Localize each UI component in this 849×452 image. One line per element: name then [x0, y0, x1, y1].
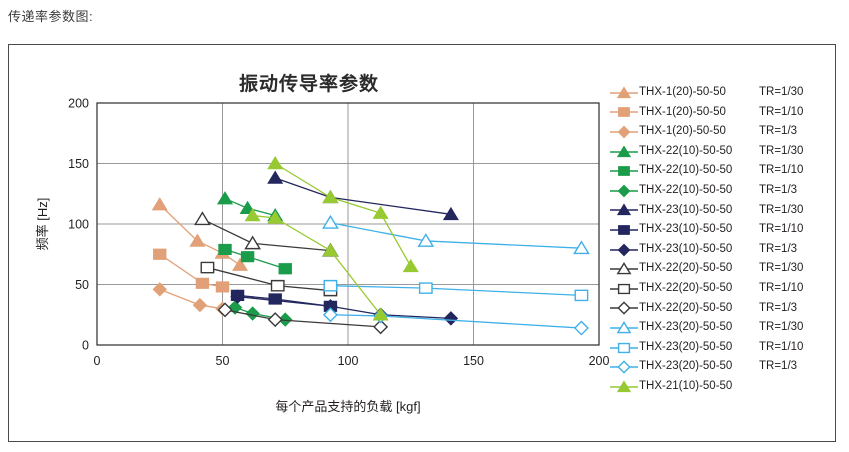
data-point-diamond	[269, 313, 282, 326]
series-line	[160, 289, 223, 308]
legend-series-tr: TR=1/3	[759, 361, 797, 373]
series-line	[275, 178, 451, 214]
x-tick-label: 0	[94, 354, 101, 368]
x-tick-label: 50	[216, 354, 230, 368]
series-line	[330, 286, 581, 296]
legend-marker-triangle-icon	[609, 261, 639, 277]
series-13	[324, 281, 587, 301]
data-point-triangle	[245, 237, 259, 249]
data-point-square	[154, 249, 166, 259]
legend-series-name: THX-22(20)-50-50	[639, 263, 759, 275]
legend-item-6[interactable]: THX-23(10)-50-50TR=1/30	[609, 201, 837, 221]
data-point-triangle	[323, 191, 337, 203]
legend-item-13[interactable]: THX-23(20)-50-50TR=1/10	[609, 338, 837, 358]
data-point-diamond	[575, 322, 588, 335]
legend-series-name: THX-23(10)-50-50	[639, 205, 759, 217]
legend-series-tr: TR=1/10	[759, 224, 803, 236]
legend-item-4[interactable]: THX-22(10)-50-50TR=1/10	[609, 161, 837, 181]
series-line	[275, 164, 411, 267]
legend-item-14[interactable]: THX-23(20)-50-50TR=1/3	[609, 357, 837, 377]
legend-series-name: THX-23(10)-50-50	[639, 224, 759, 236]
legend-series-tr: TR=1/30	[759, 322, 803, 334]
data-point-square	[196, 278, 208, 288]
legend-series-name: THX-23(20)-50-50	[639, 342, 759, 354]
legend-marker-square-icon	[609, 222, 639, 238]
y-tick-label: 50	[75, 278, 89, 292]
data-point-square	[216, 282, 228, 292]
y-axis-title: 频率 [Hz]	[35, 198, 50, 251]
data-point-square	[272, 281, 284, 291]
legend-marker-diamond-icon	[609, 124, 639, 140]
legend-item-2[interactable]: THX-1(20)-50-50TR=1/3	[609, 122, 837, 142]
data-point-square	[324, 281, 336, 291]
data-point-triangle	[153, 198, 167, 210]
legend-marker-triangle-icon	[609, 379, 639, 395]
data-point-square	[575, 290, 587, 300]
legend-marker-triangle-icon	[609, 85, 639, 101]
legend-series-name: THX-23(20)-50-50	[639, 361, 759, 373]
legend-marker-triangle-icon	[609, 144, 639, 160]
legend-series-tr: TR=1/3	[759, 244, 797, 256]
y-tick-label: 0	[82, 339, 89, 353]
legend-marker-diamond-icon	[609, 242, 639, 258]
legend-series-name: THX-23(10)-50-50	[639, 244, 759, 256]
data-point-triangle	[404, 260, 418, 272]
x-tick-label: 200	[589, 354, 610, 368]
y-tick-label: 100	[68, 218, 89, 232]
legend-item-12[interactable]: THX-23(20)-50-50TR=1/30	[609, 318, 837, 338]
legend-series-name: THX-21(10)-50-50	[639, 381, 759, 393]
legend-item-5[interactable]: THX-22(10)-50-50TR=1/3	[609, 181, 837, 201]
data-point-diamond	[246, 307, 259, 320]
legend-series-name: THX-1(20)-50-50	[639, 107, 759, 119]
legend-marker-square-icon	[609, 340, 639, 356]
legend-item-3[interactable]: THX-22(10)-50-50TR=1/30	[609, 142, 837, 162]
data-point-triangle	[374, 207, 388, 219]
data-point-square	[279, 264, 291, 274]
legend-series-name: THX-22(10)-50-50	[639, 146, 759, 158]
data-point-triangle	[218, 192, 232, 204]
x-tick-label: 150	[463, 354, 484, 368]
legend-series-name: THX-23(20)-50-50	[639, 322, 759, 334]
legend-series-name: THX-1(20)-50-50	[639, 126, 759, 138]
legend-series-tr: TR=1/10	[759, 165, 803, 177]
legend-series-tr: TR=1/30	[759, 205, 803, 217]
legend-item-0[interactable]: THX-1(20)-50-50TR=1/30	[609, 83, 837, 103]
legend-marker-diamond-icon	[609, 300, 639, 316]
data-point-diamond	[444, 312, 457, 325]
legend-marker-diamond-icon	[609, 359, 639, 375]
legend-marker-triangle-icon	[609, 202, 639, 218]
legend-marker-square-icon	[609, 163, 639, 179]
data-point-square	[420, 283, 432, 293]
legend-item-8[interactable]: THX-23(10)-50-50TR=1/3	[609, 240, 837, 260]
legend-series-tr: TR=1/3	[759, 303, 797, 315]
legend-item-7[interactable]: THX-23(10)-50-50TR=1/10	[609, 220, 837, 240]
series-12	[323, 216, 588, 253]
y-tick-label: 200	[68, 97, 89, 111]
legend-series-name: THX-22(10)-50-50	[639, 165, 759, 177]
data-point-square	[219, 244, 231, 254]
series-6	[268, 172, 458, 220]
legend-marker-diamond-icon	[609, 183, 639, 199]
legend-series-tr: TR=1/30	[759, 263, 803, 275]
legend-series-tr: TR=1/3	[759, 126, 797, 138]
legend-series-name: THX-22(20)-50-50	[639, 303, 759, 315]
legend-marker-triangle-icon	[609, 320, 639, 336]
chart-card: 振动传导率参数 050100150200050100150200频率 [Hz]每…	[8, 44, 836, 442]
legend-item-10[interactable]: THX-22(20)-50-50TR=1/10	[609, 279, 837, 299]
chart-legend: THX-1(20)-50-50TR=1/30THX-1(20)-50-50TR=…	[609, 83, 837, 397]
legend-series-tr: TR=1/10	[759, 342, 803, 354]
legend-series-name: THX-22(20)-50-50	[639, 283, 759, 295]
legend-series-tr: TR=1/10	[759, 107, 803, 119]
legend-item-11[interactable]: THX-22(20)-50-50TR=1/3	[609, 299, 837, 319]
data-point-square	[241, 252, 253, 262]
data-point-triangle	[195, 213, 209, 225]
series-15	[268, 157, 418, 272]
data-point-square	[269, 294, 281, 304]
legend-item-15[interactable]: THX-21(10)-50-50	[609, 377, 837, 397]
legend-marker-square-icon	[609, 281, 639, 297]
data-point-triangle	[323, 216, 337, 228]
x-tick-label: 100	[338, 354, 359, 368]
legend-series-tr: TR=1/10	[759, 283, 803, 295]
data-point-triangle	[268, 172, 282, 184]
series-line	[225, 249, 285, 268]
page-caption: 传递率参数图:	[8, 6, 93, 25]
data-point-triangle	[268, 157, 282, 169]
data-point-square	[201, 262, 213, 272]
data-point-diamond	[193, 299, 206, 312]
series-5	[229, 301, 292, 326]
x-axis-title: 每个产品支持的负载 [kgf]	[275, 399, 420, 414]
series-line	[330, 223, 581, 248]
series-8	[231, 290, 457, 325]
legend-series-tr: TR=1/3	[759, 185, 797, 197]
series-11	[219, 303, 388, 333]
legend-series-tr: TR=1/30	[759, 87, 803, 99]
legend-series-name: THX-22(10)-50-50	[639, 185, 759, 197]
legend-item-9[interactable]: THX-22(20)-50-50TR=1/30	[609, 259, 837, 279]
y-tick-label: 150	[68, 157, 89, 171]
legend-marker-square-icon	[609, 104, 639, 120]
legend-item-1[interactable]: THX-1(20)-50-50TR=1/10	[609, 103, 837, 123]
series-9	[195, 213, 337, 256]
legend-series-tr: TR=1/30	[759, 146, 803, 158]
legend-series-name: THX-1(20)-50-50	[639, 87, 759, 99]
series-16	[245, 209, 387, 320]
